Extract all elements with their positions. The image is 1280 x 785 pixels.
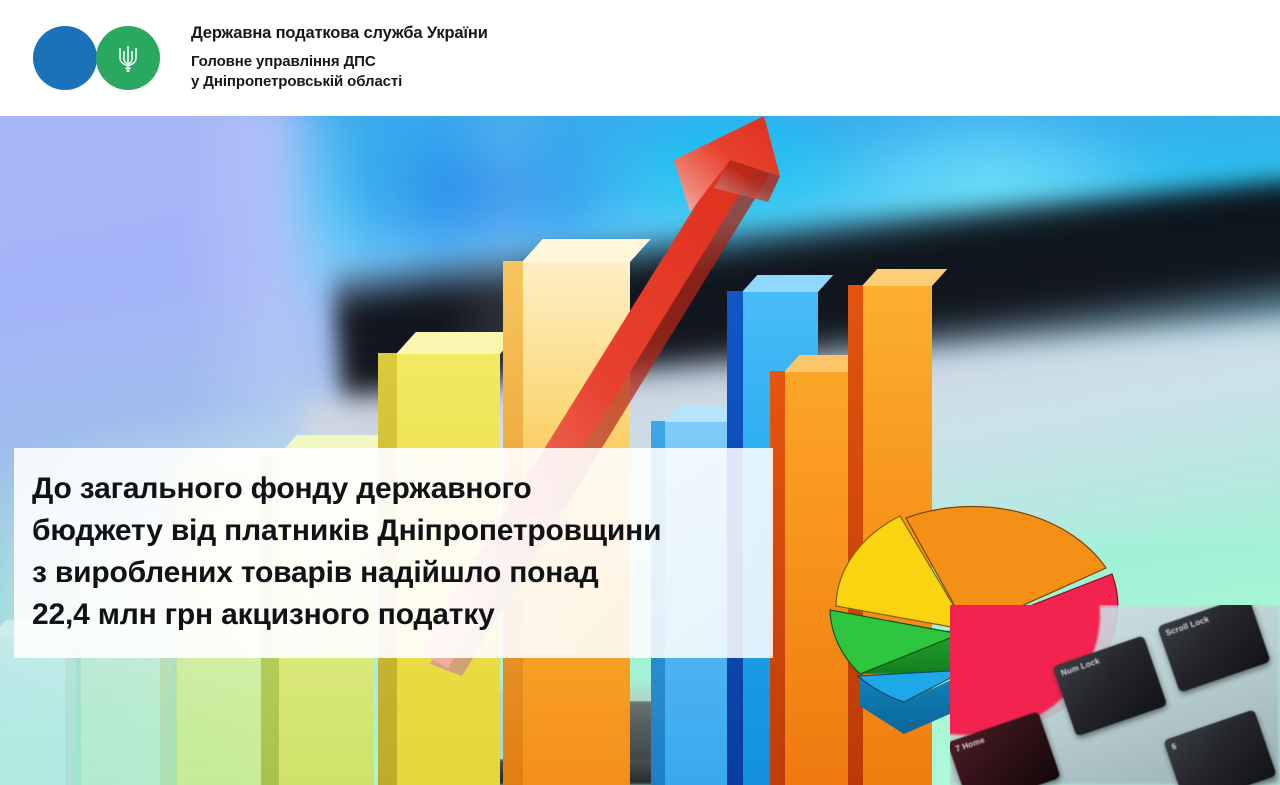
headline-line-2: бюджету від платників Дніпропетровщини <box>32 510 773 552</box>
ukraine-trident-icon <box>115 42 141 74</box>
department-name: Головне управління ДПС у Дніпропетровськ… <box>191 52 488 92</box>
logo-blue-circle-icon <box>33 26 97 90</box>
site-header: Державна податкова служба України Головн… <box>0 0 1280 116</box>
header-text-block: Державна податкова служба України Головн… <box>191 24 488 93</box>
poster-root: Державна податкова служба України Головн… <box>0 0 1280 785</box>
keyboard-graphic: Scroll Lock Num Lock 7 Home 6 <box>950 605 1280 785</box>
logo-green-circle-icon <box>96 26 160 90</box>
hero-image: Scroll Lock Num Lock 7 Home 6 До загальн… <box>0 116 1280 785</box>
headline-line-4: 22,4 млн грн акцизного податку <box>32 594 773 636</box>
headline-card: До загального фонду державного бюджету в… <box>14 448 773 658</box>
agency-logo[interactable] <box>33 26 173 90</box>
bar-top <box>862 269 947 286</box>
department-line-1: Головне управління ДПС <box>191 52 488 72</box>
department-line-2: у Дніпропетровській області <box>191 72 488 92</box>
headline-line-3: з вироблених товарів надійшло понад <box>32 552 773 594</box>
headline-line-1: До загального фонду державного <box>32 468 773 510</box>
agency-name: Державна податкова служба України <box>191 24 488 44</box>
